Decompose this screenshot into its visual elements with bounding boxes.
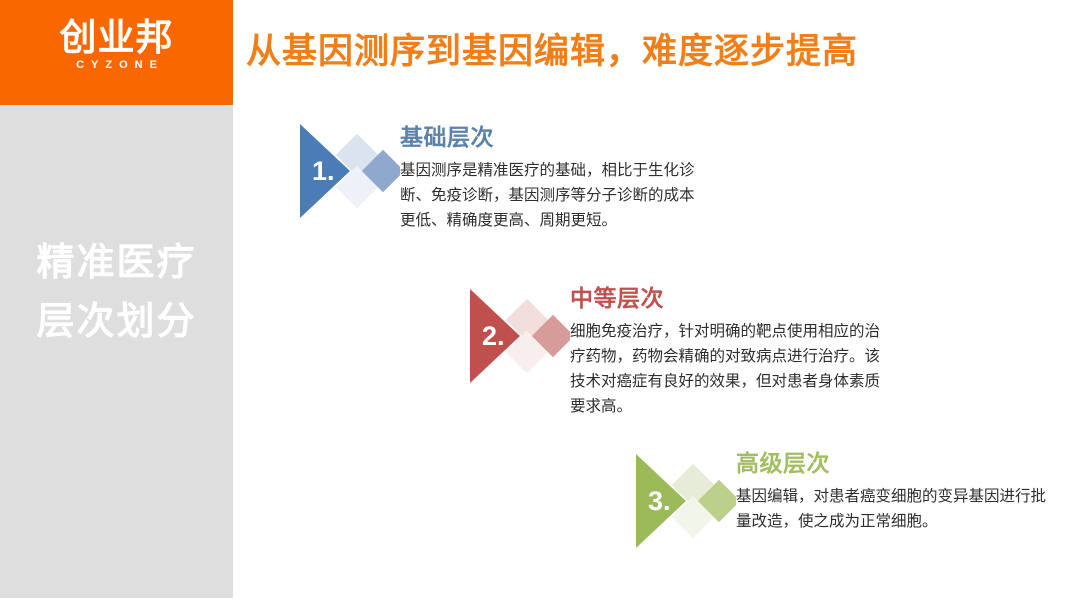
brand-name-en: CYZONE [0,60,233,71]
page-title: 从基因测序到基因编辑，难度逐步提高 [246,33,858,72]
section-block-2: 2. 中等层次 细胞免疫治疗，针对明确的靶点使用相应的治疗药物，药物会精确的对致… [462,283,882,419]
brand-logo-block: 创业邦 CYZONE [0,0,233,105]
section-number-3: 3. [648,486,671,516]
section-block-1: 1. 基础层次 基因测序是精准医疗的基础，相比于生化诊断、免疫诊断，基因测序等分… [292,118,700,233]
play-triangle-diamonds-icon-red: 2. [462,283,570,391]
sidebar-title: 精准医疗 层次划分 [0,233,233,351]
sidebar-title-line-1: 精准医疗 [0,233,233,292]
section-heading-1: 基础层次 [400,124,700,153]
section-body-3: 基因编辑，对患者癌变细胞的变异基因进行批量改造，使之成为正常细胞。 [736,484,1048,534]
section-number-2: 2. [482,321,505,351]
play-triangle-diamonds-icon-blue: 1. [292,118,400,226]
sidebar-panel: 精准医疗 层次划分 [0,105,233,598]
play-triangle-diamonds-icon-green: 3. [628,448,736,556]
brand-name-cn: 创业邦 [0,19,233,56]
section-text-2: 中等层次 细胞免疫治疗，针对明确的靶点使用相应的治疗药物，药物会精确的对致病点进… [570,283,882,419]
section-text-1: 基础层次 基因测序是精准医疗的基础，相比于生化诊断、免疫诊断，基因测序等分子诊断… [400,118,700,233]
section-body-2: 细胞免疫治疗，针对明确的靶点使用相应的治疗药物，药物会精确的对致病点进行治疗。该… [570,319,882,419]
left-column: 创业邦 CYZONE 精准医疗 层次划分 [0,0,233,598]
section-body-1: 基因测序是精准医疗的基础，相比于生化诊断、免疫诊断，基因测序等分子诊断的成本更低… [400,158,700,233]
section-heading-3: 高级层次 [736,450,1048,479]
slide-canvas: 创业邦 CYZONE 精准医疗 层次划分 从基因测序到基因编辑，难度逐步提高 1… [0,0,1080,607]
sidebar-title-line-2: 层次划分 [0,292,233,351]
section-number-1: 1. [312,156,335,186]
brand-logo: 创业邦 CYZONE [0,19,233,71]
section-block-3: 3. 高级层次 基因编辑，对患者癌变细胞的变异基因进行批量改造，使之成为正常细胞… [628,448,1048,534]
section-heading-2: 中等层次 [570,285,882,314]
section-text-3: 高级层次 基因编辑，对患者癌变细胞的变异基因进行批量改造，使之成为正常细胞。 [736,448,1048,534]
